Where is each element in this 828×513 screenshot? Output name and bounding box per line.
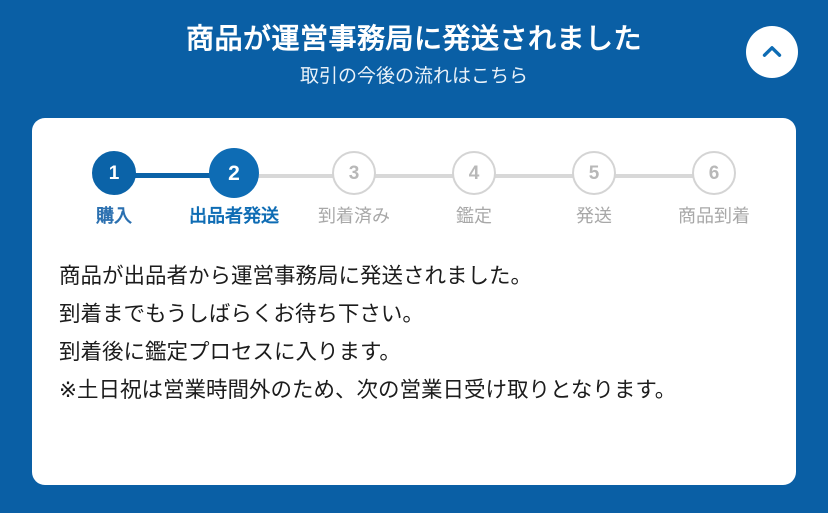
page-title: 商品が運営事務局に発送されました <box>186 24 642 55</box>
step-number-badge: 5 <box>572 151 616 195</box>
status-description: 商品が出品者から運営事務局に発送されました。 到着までもうしばらくお待ち下さい。… <box>59 257 769 409</box>
step-item-shipping[interactable]: 5 発送 <box>534 151 654 227</box>
step-item-appraisal[interactable]: 4 鑑定 <box>414 151 534 227</box>
step-item-delivered[interactable]: 6 商品到着 <box>654 151 774 227</box>
step-label: 購入 <box>96 206 132 227</box>
step-label: 出品者発送 <box>189 206 279 227</box>
progress-stepper: 1 購入 2 出品者発送 3 到着済み 4 鑑定 5 発送 <box>54 151 774 249</box>
step-label: 商品到着 <box>678 206 750 227</box>
step-list: 1 購入 2 出品者発送 3 到着済み 4 鑑定 5 発送 <box>54 151 774 227</box>
collapse-button[interactable] <box>746 26 798 78</box>
page-header: 商品が運営事務局に発送されました 取引の今後の流れはこちら <box>0 0 828 118</box>
status-card: 1 購入 2 出品者発送 3 到着済み 4 鑑定 5 発送 <box>32 118 796 485</box>
status-line: 商品が出品者から運営事務局に発送されました。 <box>59 257 769 295</box>
step-item-purchase[interactable]: 1 購入 <box>54 151 174 227</box>
step-label: 到着済み <box>318 206 390 227</box>
status-line: 到着までもうしばらくお待ち下さい。 <box>59 295 769 333</box>
step-number-badge: 6 <box>692 151 736 195</box>
step-item-arrived[interactable]: 3 到着済み <box>294 151 414 227</box>
step-item-seller-shipped[interactable]: 2 出品者発送 <box>174 151 294 227</box>
status-line: 到着後に鑑定プロセスに入ります。 <box>59 333 769 371</box>
step-number-badge: 1 <box>92 151 136 195</box>
status-line: ※土日祝は営業時間外のため、次の営業日受け取りとなります。 <box>59 371 769 409</box>
step-number-badge: 3 <box>332 151 376 195</box>
step-label: 発送 <box>576 206 612 227</box>
step-number-badge: 4 <box>452 151 496 195</box>
chevron-up-icon <box>759 39 785 65</box>
step-label: 鑑定 <box>456 206 492 227</box>
page-subtitle: 取引の今後の流れはこちら <box>300 66 528 89</box>
step-number-badge: 2 <box>209 148 259 198</box>
